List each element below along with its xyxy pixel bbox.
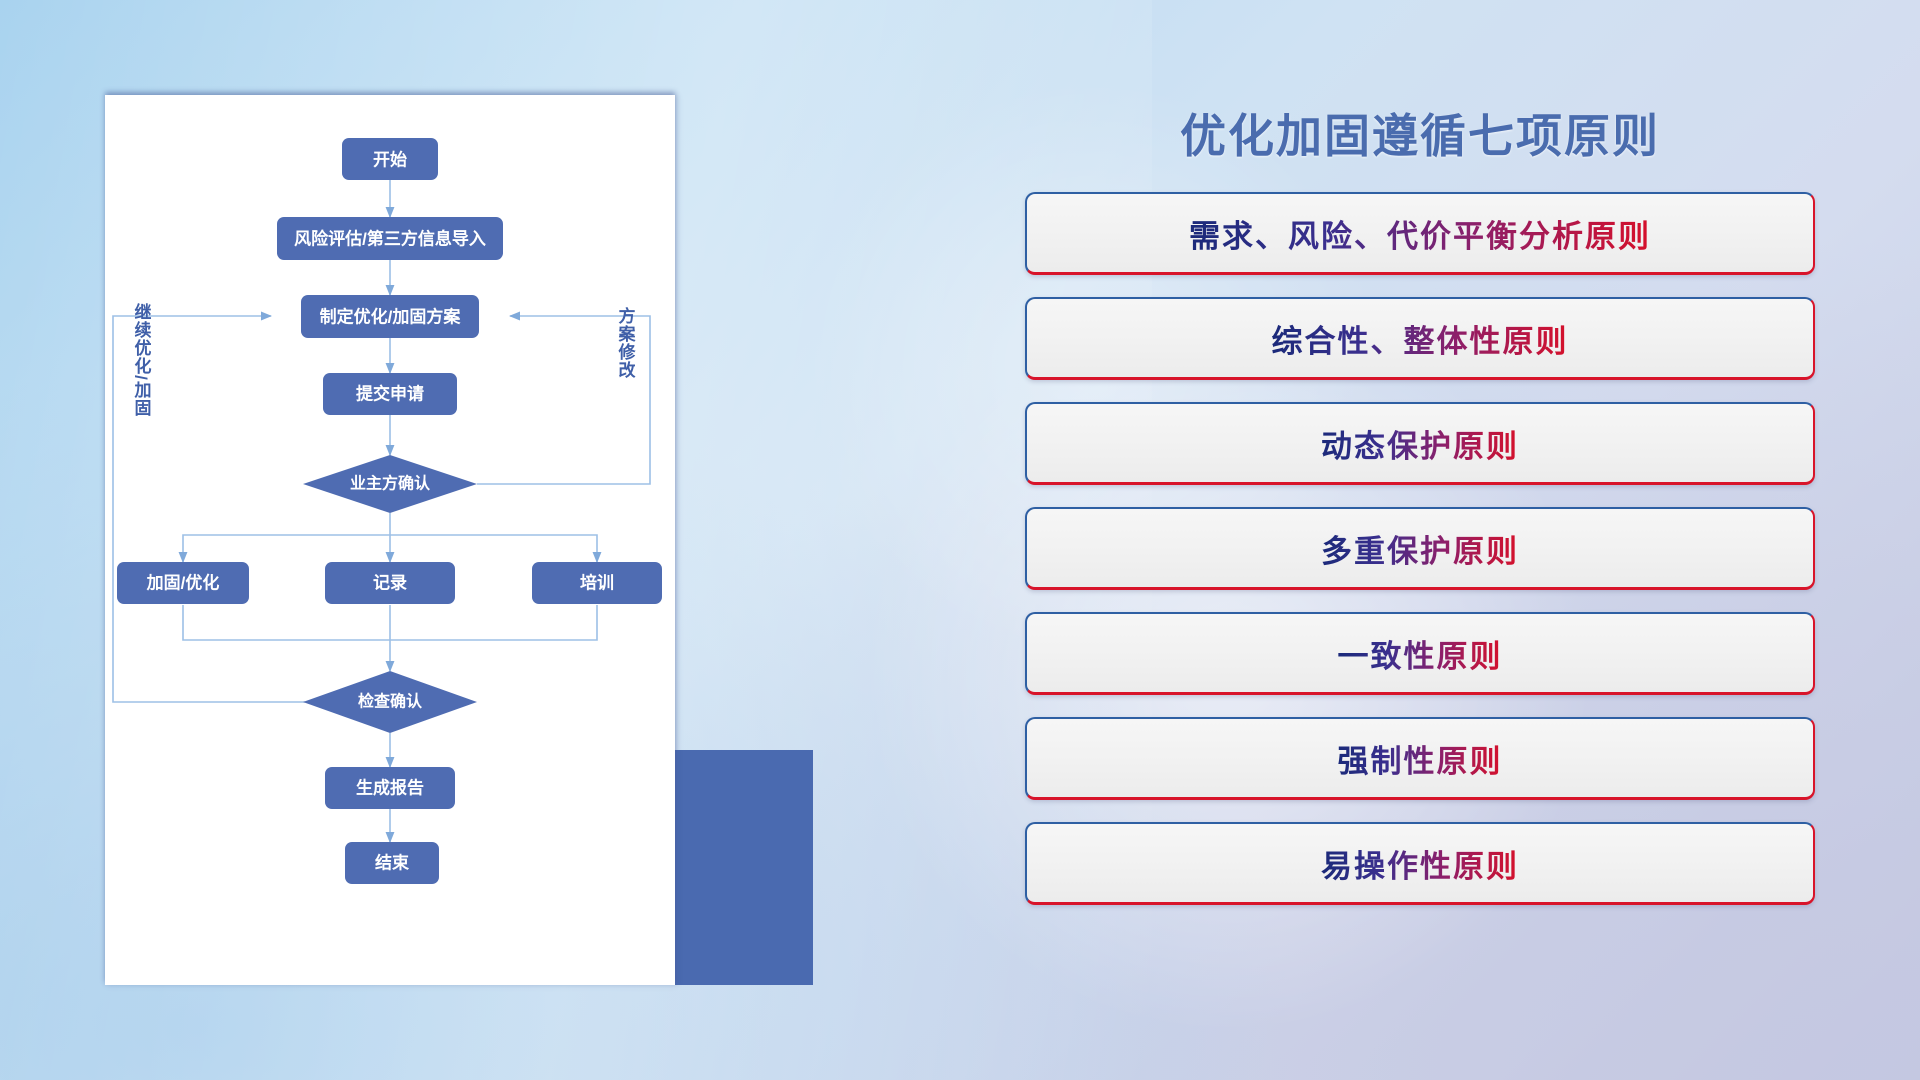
node-record[interactable]: 记录 [325,562,455,604]
principle-label: 一致性原则 [1338,631,1503,676]
principle-item-3[interactable]: 动态保护原则 [1025,402,1815,485]
node-submit[interactable]: 提交申请 [323,373,457,415]
node-training-label: 培训 [580,573,614,593]
page-title: 优化加固遵循七项原则 [1000,100,1840,166]
edge-owner-reinforce [183,513,390,562]
node-record-label: 记录 [373,574,407,593]
node-reinforce-label: 加固/优化 [146,573,220,593]
node-owner-confirm-label: 业主方确认 [350,474,431,493]
principle-item-2[interactable]: 综合性、整体性原则 [1025,297,1815,380]
principle-item-1[interactable]: 需求、风险、代价平衡分析原则 [1025,192,1815,275]
node-plan-label: 制定优化/加固方案 [320,307,462,327]
node-end[interactable]: 结束 [345,842,439,884]
node-plan[interactable]: 制定优化/加固方案 [301,295,479,338]
edge-reinforce-join [183,605,390,640]
node-owner-confirm[interactable]: 业主方确认 [303,455,477,513]
principle-item-6[interactable]: 强制性原则 [1025,717,1815,800]
node-check-confirm[interactable]: 检查确认 [303,671,477,733]
node-end-label: 结束 [375,853,409,873]
node-training[interactable]: 培训 [532,562,662,604]
principle-label: 需求、风险、代价平衡分析原则 [1189,211,1651,256]
edge-owner-training [390,535,597,562]
edge-label-left-loop: 继续优化/加固 [132,302,153,417]
node-start-label: 开始 [373,150,407,170]
principle-item-5[interactable]: 一致性原则 [1025,612,1815,695]
principles-panel: 优化加固遵循七项原则 需求、风险、代价平衡分析原则 综合性、整体性原则 动态保护… [1000,80,1840,1010]
principle-label: 强制性原则 [1338,736,1503,781]
node-start[interactable]: 开始 [342,138,438,180]
node-check-confirm-label: 检查确认 [358,692,423,711]
principle-item-4[interactable]: 多重保护原则 [1025,507,1815,590]
principle-item-7[interactable]: 易操作性原则 [1025,822,1815,905]
principle-label: 易操作性原则 [1321,841,1519,886]
node-report[interactable]: 生成报告 [325,767,455,809]
principle-label: 综合性、整体性原则 [1272,316,1569,361]
node-submit-label: 提交申请 [356,384,424,404]
principle-label: 动态保护原则 [1321,421,1519,466]
edge-label-right-loop: 方案修改 [616,306,637,379]
node-risk-label: 风险评估/第三方信息导入 [294,229,486,249]
flowchart-diagram: 开始 风险评估/第三方信息导入 制定优化/加固方案 提交申请 业主方确认 加固/… [105,95,675,985]
principle-label: 多重保护原则 [1321,526,1519,571]
node-risk-assessment[interactable]: 风险评估/第三方信息导入 [277,217,503,260]
node-report-label: 生成报告 [356,778,424,798]
edge-training-join [390,605,597,640]
flowchart-card: 开始 风险评估/第三方信息导入 制定优化/加固方案 提交申请 业主方确认 加固/… [105,95,675,985]
node-reinforce[interactable]: 加固/优化 [117,562,249,604]
